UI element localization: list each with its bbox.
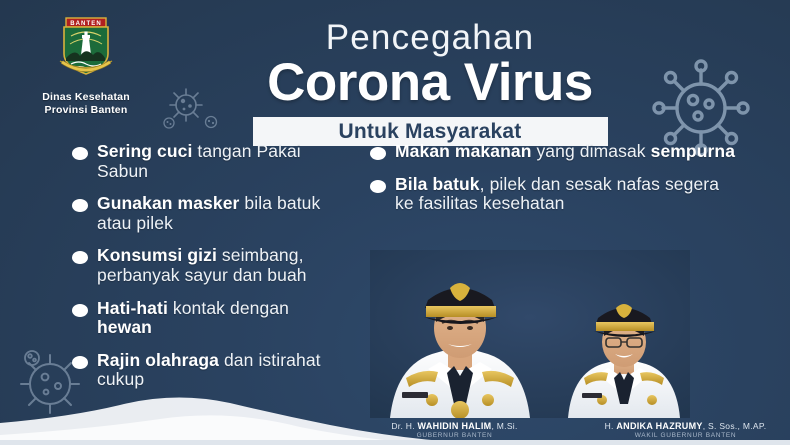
official-fullname-0: WAHIDIN HALIM	[418, 421, 492, 431]
official-fullname-1: ANDIKA HAZRUMY	[616, 421, 702, 431]
tip-text-right-1: Bila batuk, pilek dan sesak nafas segera…	[395, 175, 740, 214]
tip-item-left-1: Gunakan masker bila batuk atau pilek	[72, 194, 340, 233]
bullet-dot-icon	[72, 251, 88, 264]
official-name-1: H. ANDIKA HAZRUMY, S. Sos., M.AP.	[581, 421, 790, 431]
officials-names: Dr. H. WAHIDIN HALIM, M.Si. GUBERNUR BAN…	[350, 421, 790, 439]
official-block-1: H. ANDIKA HAZRUMY, S. Sos., M.AP. WAKIL …	[581, 421, 790, 439]
bottom-strip	[0, 440, 790, 445]
tip-text-left-0: Sering cuci tangan Pakai Sabun	[97, 142, 340, 181]
title-line-1: Pencegahan	[150, 20, 710, 55]
logo-caption: Dinas Kesehatan Provinsi Banten	[26, 91, 146, 117]
official-name-0: Dr. H. WAHIDIN HALIM, M.Si.	[350, 421, 559, 431]
bullet-dot-icon	[370, 147, 386, 160]
tip-item-right-1: Bila batuk, pilek dan sesak nafas segera…	[370, 175, 740, 214]
bullet-dot-icon	[72, 304, 88, 317]
tips-column-right: Makan makanan yang dimasak sempurnaBila …	[340, 142, 740, 403]
title-line-2: Corona Virus	[150, 56, 710, 110]
bullet-dot-icon	[72, 147, 88, 160]
tips-column-left: Sering cuci tangan Pakai SabunGunakan ma…	[0, 142, 340, 403]
logo-caption-line1: Dinas Kesehatan	[26, 91, 146, 104]
logo-caption-line2: Provinsi Banten	[26, 104, 146, 117]
official-suffix-0: , M.Si.	[491, 421, 517, 431]
subtitle-text: Untuk Masyarakat	[339, 120, 522, 144]
tip-text-left-3: Hati-hati kontak dengan hewan	[97, 299, 340, 338]
official-prefix-0: Dr. H.	[391, 421, 417, 431]
bullet-dot-icon	[72, 356, 88, 369]
tip-text-left-4: Rajin olahraga dan istirahat cukup	[97, 351, 340, 390]
tip-text-right-0: Makan makanan yang dimasak sempurna	[395, 142, 735, 162]
tip-item-left-2: Konsumsi gizi seimbang, perbanyak sayur …	[72, 246, 340, 285]
headline-block: Pencegahan Corona Virus Untuk Masyarakat	[150, 20, 710, 146]
logo-block: BANTEN Dinas Ke	[26, 14, 146, 117]
official-role-0: GUBERNUR BANTEN	[350, 432, 559, 439]
tip-item-left-3: Hati-hati kontak dengan hewan	[72, 299, 340, 338]
banten-province-emblem: BANTEN	[26, 14, 146, 87]
tip-item-right-0: Makan makanan yang dimasak sempurna	[370, 142, 740, 162]
official-prefix-1: H.	[605, 421, 617, 431]
tip-text-left-2: Konsumsi gizi seimbang, perbanyak sayur …	[97, 246, 340, 285]
poster-root: BANTEN Dinas Ke	[0, 0, 790, 445]
bullet-dot-icon	[72, 199, 88, 212]
official-block-0: Dr. H. WAHIDIN HALIM, M.Si. GUBERNUR BAN…	[350, 421, 559, 439]
official-suffix-1: , S. Sos., M.AP.	[703, 421, 767, 431]
tip-item-left-0: Sering cuci tangan Pakai Sabun	[72, 142, 340, 181]
tip-item-left-4: Rajin olahraga dan istirahat cukup	[72, 351, 340, 390]
tips-columns: Sering cuci tangan Pakai SabunGunakan ma…	[0, 142, 790, 403]
tip-text-left-1: Gunakan masker bila batuk atau pilek	[97, 194, 340, 233]
official-role-1: WAKIL GUBERNUR BANTEN	[581, 432, 790, 439]
bullet-dot-icon	[370, 180, 386, 193]
